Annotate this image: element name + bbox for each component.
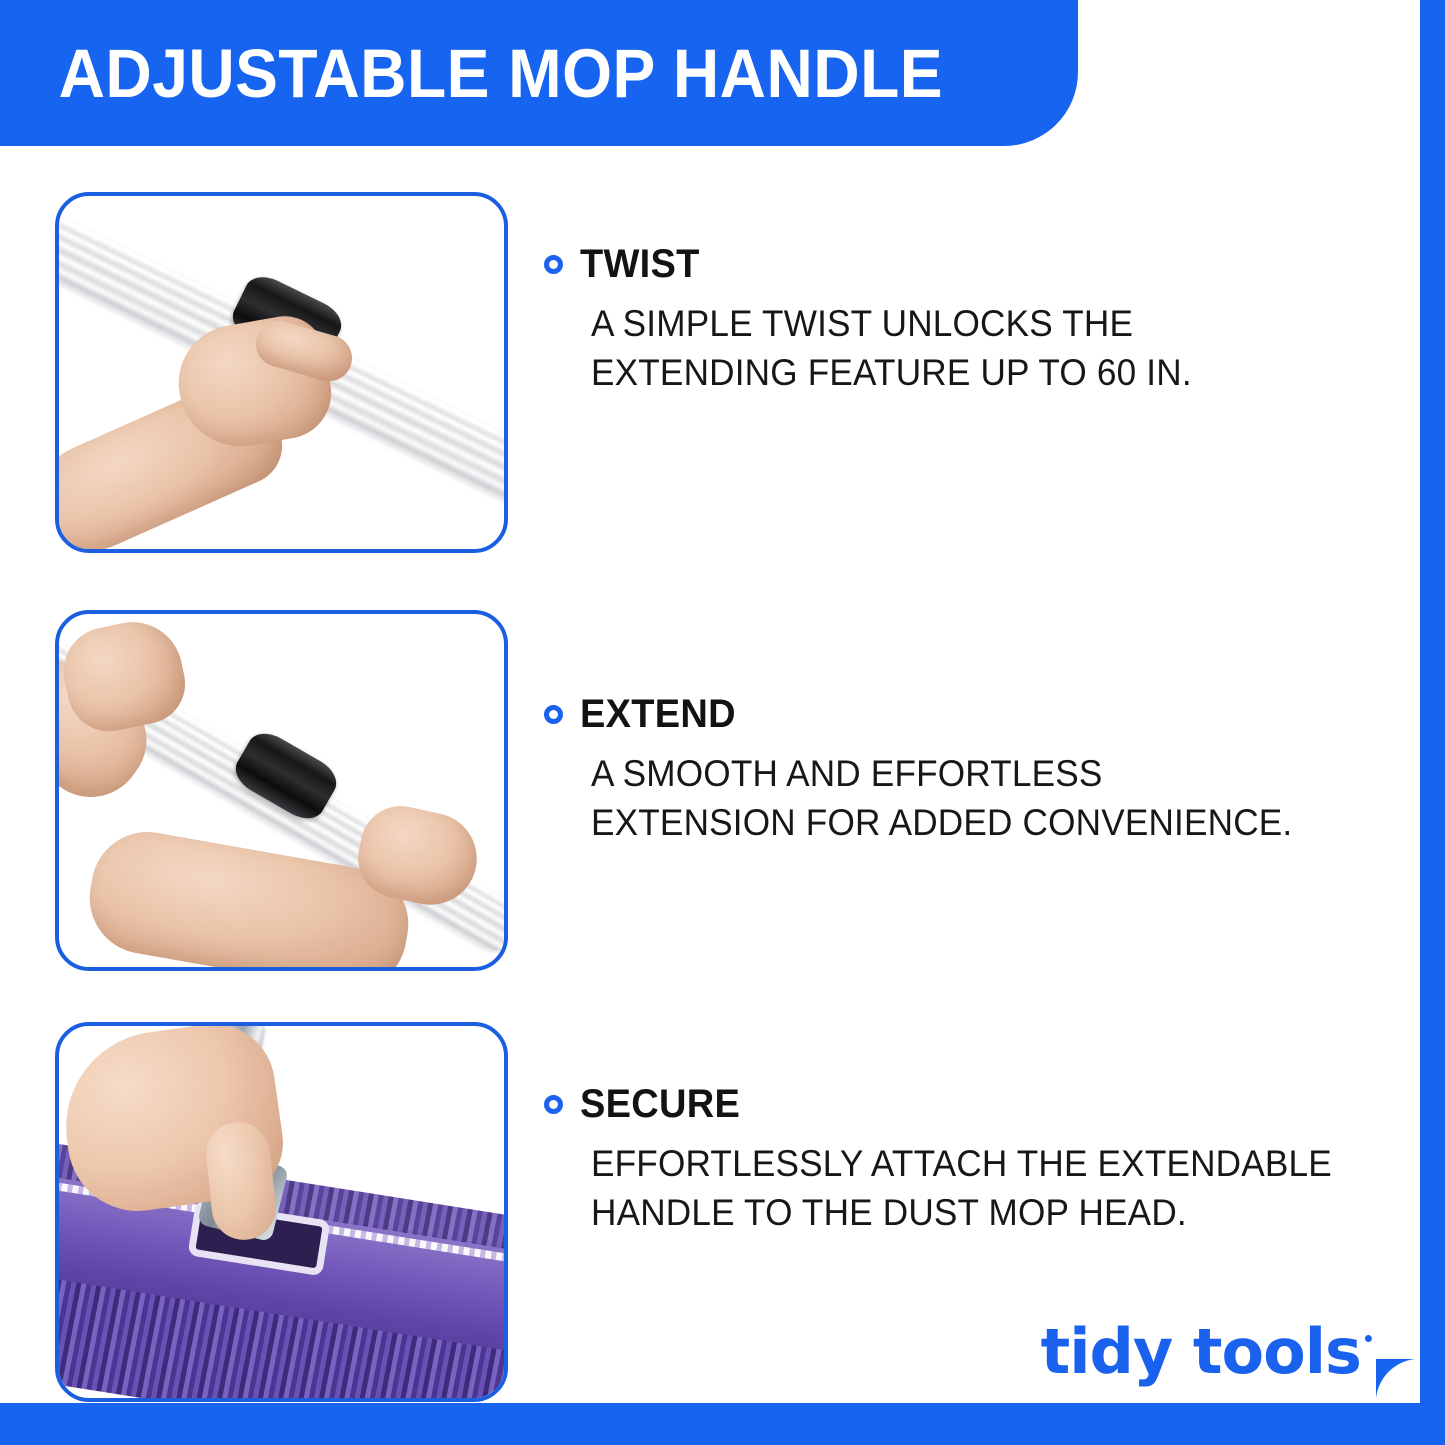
product-photo-twist: [55, 192, 508, 553]
footer-corner-notch: [1376, 1359, 1420, 1403]
feature-row-twist: TWIST A SIMPLE TWIST UNLOCKS THE EXTENDI…: [0, 192, 1400, 553]
feature-body-line: EXTENSION FOR ADDED CONVENIENCE.: [591, 799, 1360, 848]
feature-heading-line: EXTEND: [544, 694, 1400, 734]
feature-body: A SIMPLE TWIST UNLOCKS THE EXTENDING FEA…: [591, 300, 1360, 398]
feature-copy-twist: TWIST A SIMPLE TWIST UNLOCKS THE EXTENDI…: [508, 192, 1400, 398]
feature-row-extend: EXTEND A SMOOTH AND EFFORTLESS EXTENSION…: [0, 610, 1400, 971]
photo-twist-illustration: [59, 196, 504, 549]
photo-extend-illustration: [59, 614, 504, 967]
infographic-page: ADJUSTABLE MOP HANDLE TWIST A SIMPLE TWI…: [0, 0, 1445, 1445]
product-photo-extend: [55, 610, 508, 971]
feature-body-line: EFFORTLESSLY ATTACH THE EXTENDABLE: [591, 1140, 1360, 1189]
feature-heading-line: SECURE: [544, 1084, 1400, 1124]
feature-body-line: EXTENDING FEATURE UP TO 60 IN.: [591, 349, 1360, 398]
feature-heading: SECURE: [580, 1084, 740, 1124]
footer-bar: [0, 1403, 1445, 1445]
feature-body-line: A SIMPLE TWIST UNLOCKS THE: [591, 300, 1360, 349]
page-title: ADJUSTABLE MOP HANDLE: [0, 39, 943, 108]
feature-copy-extend: EXTEND A SMOOTH AND EFFORTLESS EXTENSION…: [508, 610, 1400, 848]
ring-bullet-icon: [544, 1095, 563, 1114]
brand-logo: tidy tools •: [1041, 1321, 1373, 1383]
feature-body: EFFORTLESSLY ATTACH THE EXTENDABLE HANDL…: [591, 1140, 1360, 1238]
feature-copy-secure: SECURE EFFORTLESSLY ATTACH THE EXTENDABL…: [508, 1022, 1400, 1238]
ring-bullet-icon: [544, 255, 563, 274]
feature-heading: TWIST: [580, 244, 700, 284]
trademark-mark: •: [1364, 1325, 1373, 1351]
feature-body: A SMOOTH AND EFFORTLESS EXTENSION FOR AD…: [591, 750, 1360, 848]
header-banner: ADJUSTABLE MOP HANDLE: [0, 0, 1078, 146]
feature-body-line: A SMOOTH AND EFFORTLESS: [591, 750, 1360, 799]
feature-heading-line: TWIST: [544, 244, 1400, 284]
feature-body-line: HANDLE TO THE DUST MOP HEAD.: [591, 1189, 1360, 1238]
right-edge-bar: [1420, 0, 1445, 1445]
ring-bullet-icon: [544, 705, 563, 724]
brand-name: tidy tools: [1041, 1321, 1361, 1383]
feature-heading: EXTEND: [580, 694, 736, 734]
photo-secure-illustration: [59, 1026, 504, 1398]
product-photo-secure: [55, 1022, 508, 1402]
